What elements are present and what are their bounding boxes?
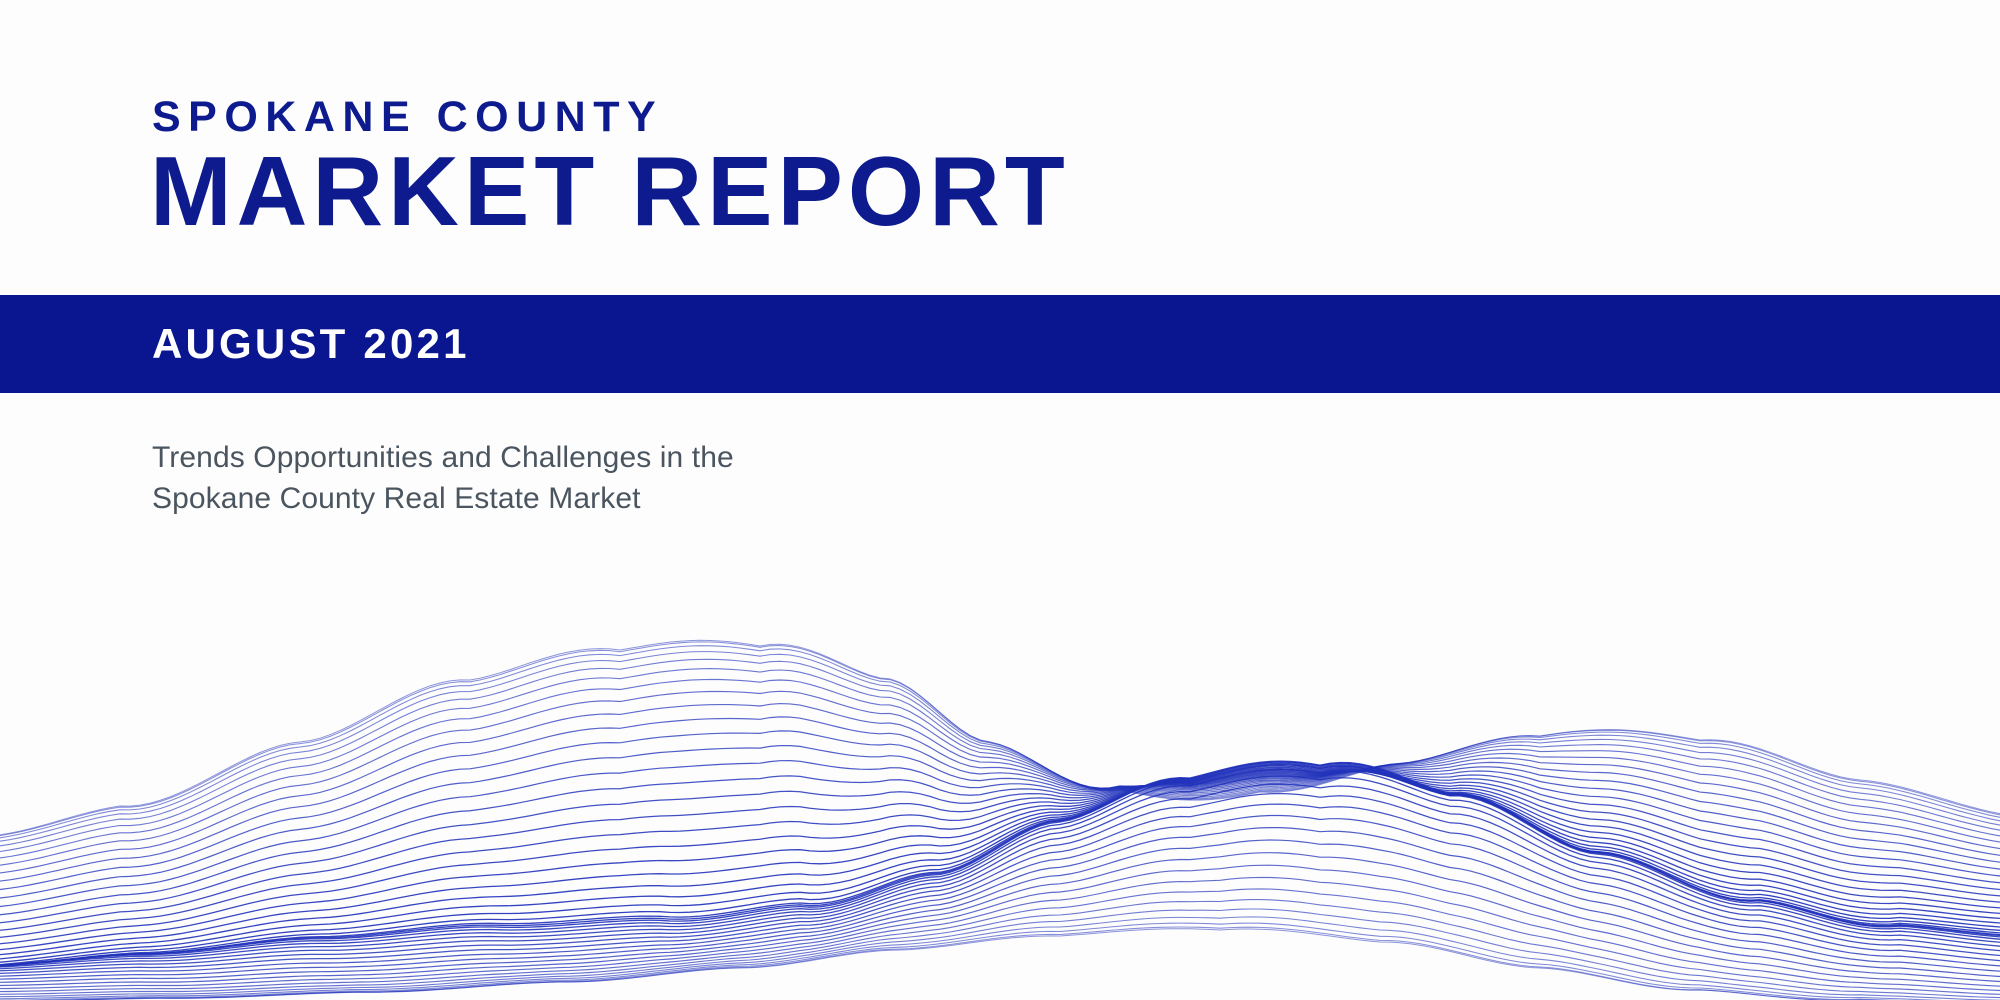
date-band: AUGUST 2021 xyxy=(0,295,2000,393)
subtitle-line-2: Spokane County Real Estate Market xyxy=(152,478,734,519)
page-title: MARKET REPORT xyxy=(150,142,1070,240)
page-eyebrow-title: SPOKANE COUNTY xyxy=(152,96,663,139)
subtitle: Trends Opportunities and Challenges in t… xyxy=(152,437,734,519)
date-band-label: AUGUST 2021 xyxy=(152,323,470,365)
cover-page: SPOKANE COUNTY MARKET REPORT AUGUST 2021… xyxy=(0,0,2000,1000)
subtitle-line-1: Trends Opportunities and Challenges in t… xyxy=(152,437,734,478)
